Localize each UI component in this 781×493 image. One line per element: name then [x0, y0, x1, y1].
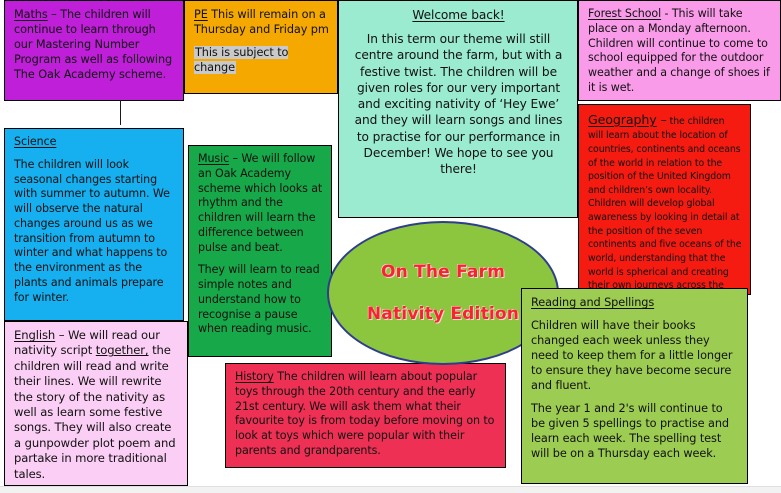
- pe-heading: PE: [194, 8, 208, 21]
- welcome-heading: Welcome back!: [412, 8, 504, 22]
- science-body: The children will look seasonal changes …: [14, 158, 175, 306]
- english-paragraph: English – We will read our nativity scri…: [14, 328, 179, 482]
- reading-heading: Reading and Spellings: [531, 296, 654, 309]
- music-body: We will follow an Oak Academy scheme whi…: [198, 152, 322, 254]
- music-heading: Music: [198, 152, 229, 165]
- history-heading: History: [235, 370, 274, 383]
- forest-paragraph: Forest School - This will take place on …: [588, 7, 772, 96]
- forest-body: This will take place on a Monday afterno…: [588, 7, 770, 94]
- poster-canvas: Maths – The children will continue to le…: [0, 0, 781, 493]
- maths-dash: –: [48, 8, 57, 21]
- textbox-forest-school[interactable]: Forest School - This will take place on …: [578, 0, 781, 101]
- pe-subject-to-change: This is subject to change: [194, 46, 288, 74]
- english-dash: –: [55, 328, 68, 342]
- science-heading: Science: [14, 135, 56, 148]
- textbox-music[interactable]: Music – We will follow an Oak Academy sc…: [188, 145, 332, 357]
- welcome-heading-paragraph: Welcome back!: [348, 7, 569, 23]
- pe-highlight-paragraph: This is subject to change: [194, 45, 329, 75]
- history-body: The children will learn about popular to…: [235, 370, 494, 457]
- textbox-maths[interactable]: Maths – The children will continue to le…: [4, 0, 184, 101]
- geography-paragraph: Geography – the children will learn abou…: [588, 111, 742, 295]
- science-heading-paragraph: Science: [14, 135, 175, 150]
- textbox-history[interactable]: History The children will learn about po…: [225, 363, 506, 468]
- text-cursor-caret: [120, 100, 121, 125]
- english-body-underlined: together,: [96, 343, 149, 357]
- theme-oval-line-2: Nativity Edition: [367, 304, 519, 324]
- maths-paragraph: Maths – The children will continue to le…: [14, 7, 175, 82]
- geography-dash: –: [657, 112, 667, 127]
- welcome-body: In this term our theme will still centre…: [348, 31, 569, 177]
- forest-heading: Forest School: [588, 7, 661, 20]
- textbox-english[interactable]: English – We will read our nativity scri…: [4, 321, 188, 486]
- page-bottom-strip: [0, 486, 781, 493]
- history-paragraph: History The children will learn about po…: [235, 370, 497, 459]
- reading-body: Children will have their books changed e…: [531, 318, 739, 393]
- geography-heading: Geography: [588, 112, 657, 127]
- english-body-post: the children will read and write their l…: [14, 343, 176, 480]
- music-body-2: They will learn to read simple notes and…: [198, 263, 323, 337]
- geography-body: the children will learn about the locati…: [588, 116, 741, 295]
- textbox-pe[interactable]: PE This will remain on a Thursday and Fr…: [184, 0, 338, 94]
- reading-heading-paragraph: Reading and Spellings: [531, 295, 739, 310]
- maths-heading: Maths: [14, 8, 48, 21]
- pe-body: This will remain on a Thursday and Frida…: [194, 8, 329, 36]
- theme-oval-line-1: On The Farm: [381, 262, 505, 282]
- textbox-reading-and-spellings[interactable]: Reading and Spellings Children will have…: [521, 288, 748, 484]
- music-dash: –: [229, 152, 238, 165]
- reading-body-2: The year 1 and 2's will continue to be g…: [531, 401, 739, 461]
- english-heading: English: [14, 328, 55, 342]
- textbox-welcome[interactable]: Welcome back! In this term our theme wil…: [338, 0, 578, 218]
- textbox-geography[interactable]: Geography – the children will learn abou…: [578, 104, 751, 295]
- music-paragraph: Music – We will follow an Oak Academy sc…: [198, 152, 323, 255]
- textbox-science[interactable]: Science The children will look seasonal …: [4, 128, 184, 321]
- pe-paragraph: PE This will remain on a Thursday and Fr…: [194, 7, 329, 37]
